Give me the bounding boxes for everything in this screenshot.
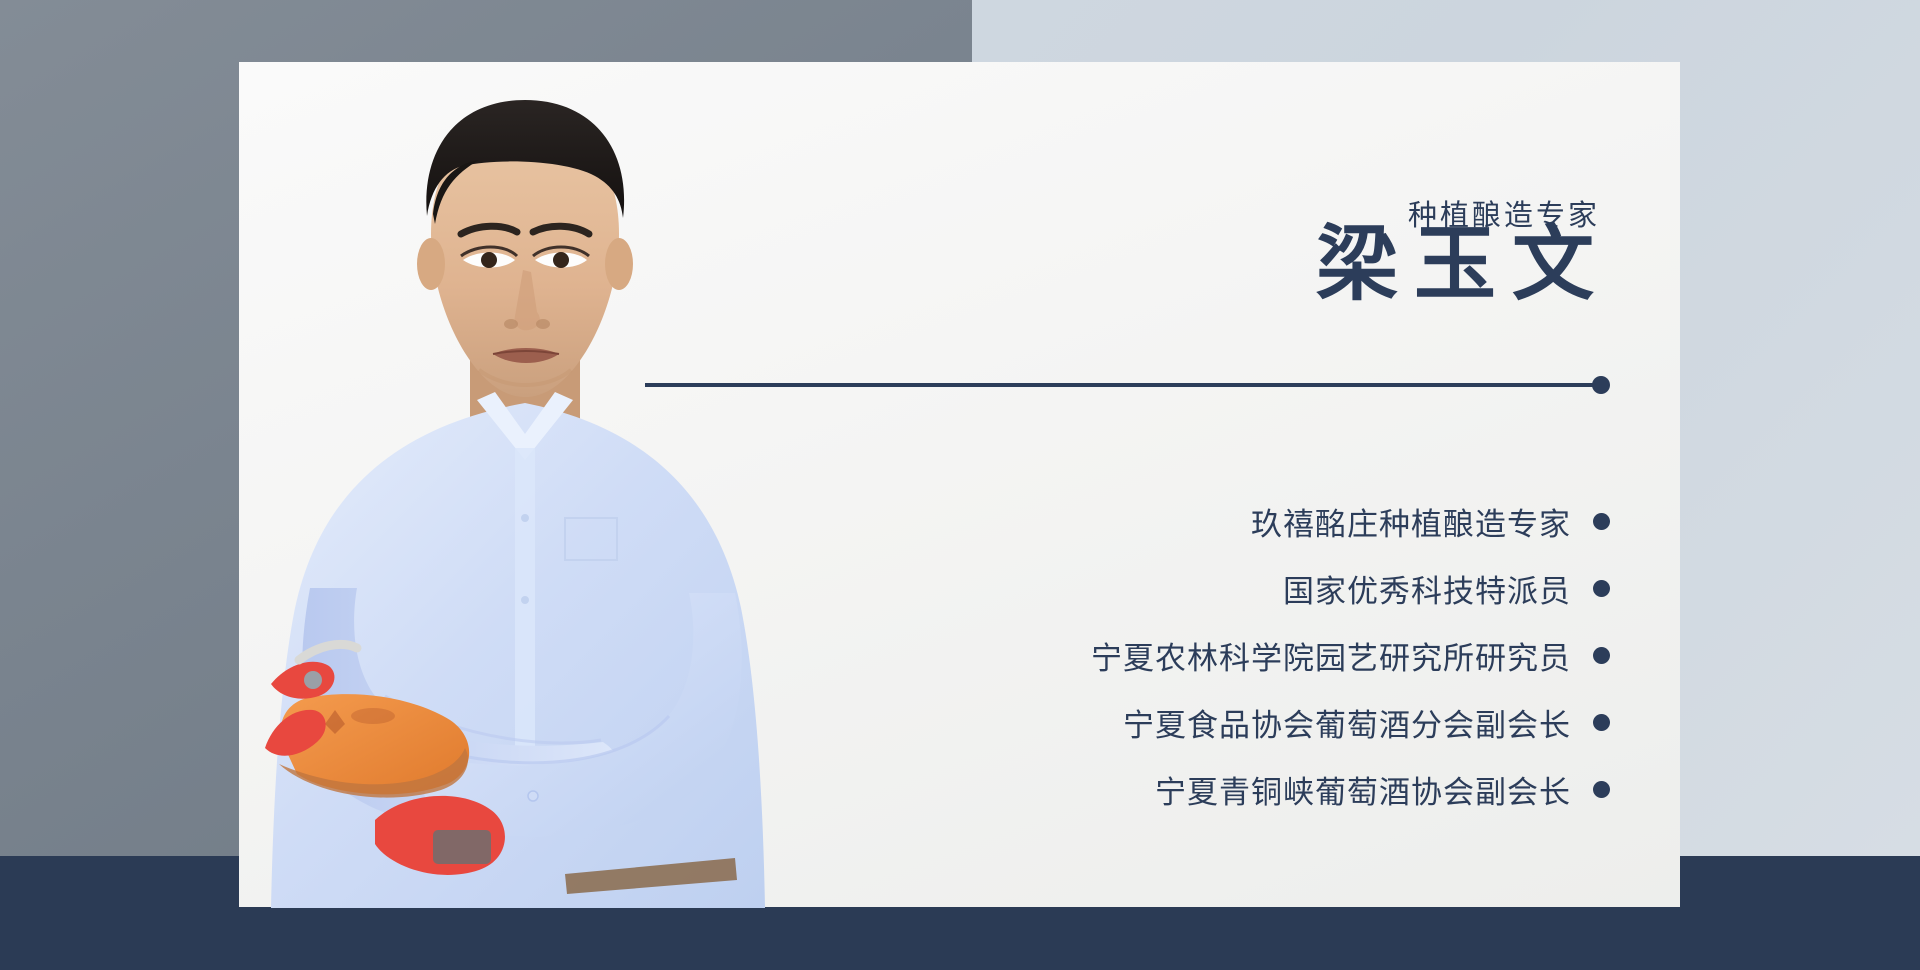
bullet-dot-icon (1593, 781, 1610, 798)
divider-endpoint-dot (1592, 376, 1610, 394)
list-item: 国家优秀科技特派员 (1283, 555, 1610, 622)
list-item: 宁夏农林科学院园艺研究所研究员 (1091, 622, 1610, 689)
bullet-dot-icon (1593, 714, 1610, 731)
list-item: 宁夏青铜峡葡萄酒协会副会长 (1155, 756, 1610, 823)
bullet-dot-icon (1593, 580, 1610, 597)
credential-text: 宁夏青铜峡葡萄酒协会副会长 (1155, 767, 1571, 812)
credential-text: 玖禧酩庄种植酿造专家 (1251, 499, 1571, 544)
bullet-dot-icon (1593, 647, 1610, 664)
divider-line (645, 383, 1600, 387)
profile-banner: 种植酿造专家 梁玉文 玖禧酩庄种植酿造专家 国家优秀科技特派员 宁夏农林科学院园… (0, 0, 1920, 970)
person-name: 梁玉文 (1316, 222, 1610, 308)
credential-text: 宁夏农林科学院园艺研究所研究员 (1091, 633, 1571, 678)
list-item: 玖禧酩庄种植酿造专家 (1251, 488, 1610, 555)
credential-text: 国家优秀科技特派员 (1283, 566, 1571, 611)
list-item: 宁夏食品协会葡萄酒分会副会长 (1123, 689, 1610, 756)
credential-text: 宁夏食品协会葡萄酒分会副会长 (1123, 700, 1571, 745)
bullet-dot-icon (1593, 513, 1610, 530)
credentials-list: 玖禧酩庄种植酿造专家 国家优秀科技特派员 宁夏农林科学院园艺研究所研究员 宁夏食… (1091, 488, 1610, 823)
